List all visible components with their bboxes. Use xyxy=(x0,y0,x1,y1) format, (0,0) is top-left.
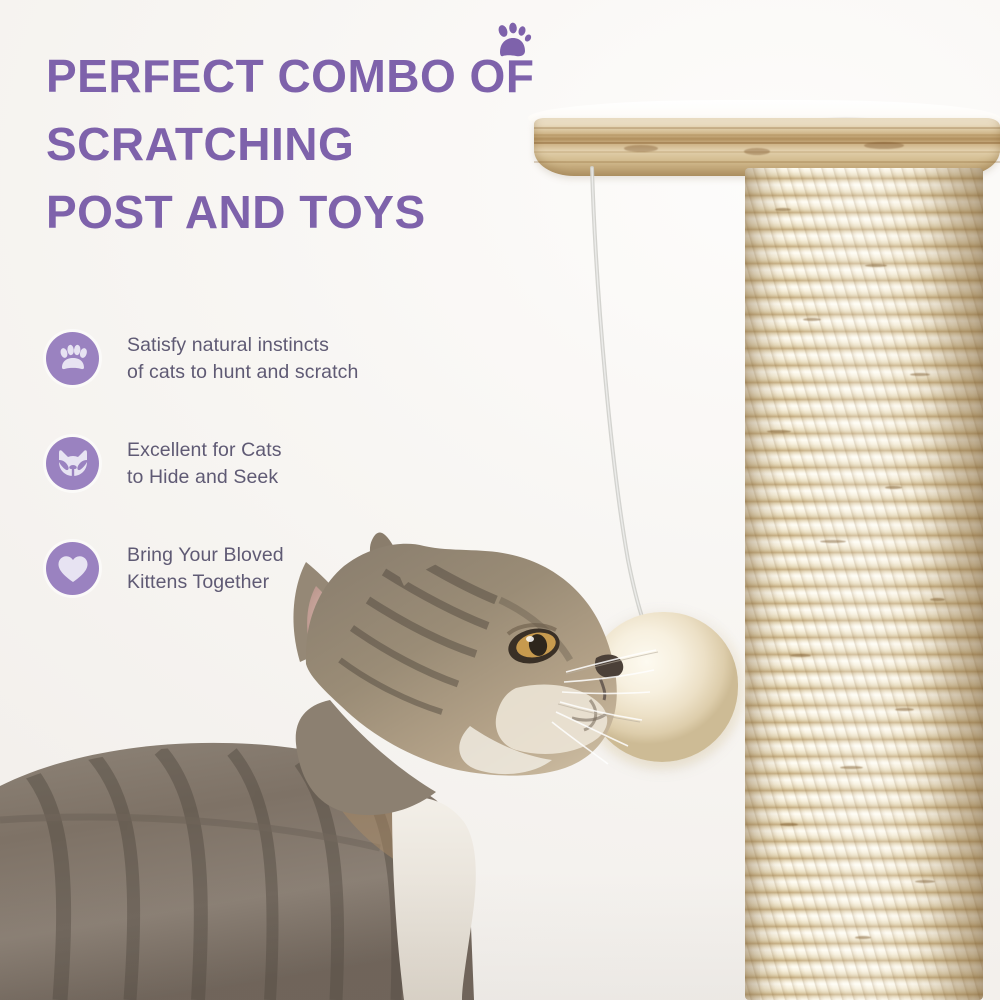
floor-shadow xyxy=(0,870,760,1000)
heart-icon xyxy=(46,542,99,595)
headline-line-3: POST AND TOYS xyxy=(46,178,646,246)
feature-item-text: Bring Your Bloved Kittens Together xyxy=(127,542,284,596)
product-marketing-image: PERFECT COMBO OF SCRATCHING POST AND TOY… xyxy=(0,0,1000,1000)
pompom-fuzz xyxy=(578,604,746,770)
feature-list: Satisfy natural instincts of cats to hun… xyxy=(46,306,466,621)
feature-line-2: Kittens Together xyxy=(127,569,284,596)
feature-line-1: Satisfy natural instincts xyxy=(127,332,358,359)
cat-face-icon xyxy=(46,437,99,490)
feature-item-text: Satisfy natural instincts of cats to hun… xyxy=(127,332,358,386)
feature-item-instincts: Satisfy natural instincts of cats to hun… xyxy=(46,306,466,411)
headline-line-1: PERFECT COMBO OF xyxy=(46,42,646,110)
feature-item-hide-and-seek: Excellent for Cats to Hide and Seek xyxy=(46,411,466,516)
page-title: PERFECT COMBO OF SCRATCHING POST AND TOY… xyxy=(46,42,646,246)
feature-item-text: Excellent for Cats to Hide and Seek xyxy=(127,437,282,491)
feature-item-kittens-together: Bring Your Bloved Kittens Together xyxy=(46,516,466,621)
hanging-pompom-toy xyxy=(586,612,738,762)
post-shading xyxy=(745,168,983,1000)
paw-print-icon xyxy=(492,22,532,60)
sisal-scratching-post xyxy=(745,168,983,1000)
platform-hole xyxy=(820,118,872,123)
headline-line-2: SCRATCHING xyxy=(46,110,646,178)
paw-print-icon xyxy=(46,332,99,385)
feature-line-2: to Hide and Seek xyxy=(127,464,282,491)
feature-line-1: Bring Your Bloved xyxy=(127,542,284,569)
feature-line-1: Excellent for Cats xyxy=(127,437,282,464)
feature-line-2: of cats to hunt and scratch xyxy=(127,359,358,386)
